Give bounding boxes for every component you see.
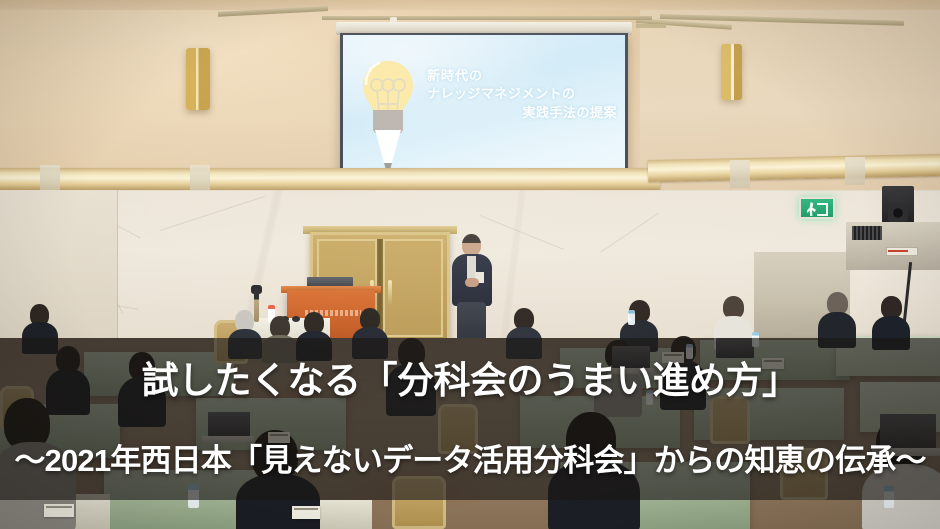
av-rack-label — [886, 247, 918, 256]
rail-bracket-4 — [845, 157, 865, 185]
overlay-title: 試したくなる「分科会のうまい進め方」 — [0, 362, 940, 401]
water-bottle-6 — [628, 310, 635, 325]
audience-member-9 — [818, 292, 856, 344]
presenter — [450, 234, 494, 344]
door-leaf-right[interactable] — [383, 239, 443, 337]
ceiling-strip — [0, 0, 940, 10]
exit-sign — [799, 197, 835, 219]
marble-left-panel — [0, 190, 118, 340]
presenter-head — [462, 234, 481, 256]
wall-gold-rail — [0, 168, 660, 190]
rail-bracket-3 — [730, 160, 750, 188]
slide-line-1: 新時代の — [427, 67, 623, 85]
slide-line-2: ナレッジマネジメントの — [427, 85, 623, 103]
exit-running-figure-icon — [807, 202, 816, 216]
slide-line-3: 実践手法の提案 — [427, 104, 623, 122]
wall-sconce-right — [721, 44, 742, 100]
marble-vein-2 — [160, 196, 265, 231]
speaker-cone — [888, 204, 908, 222]
presenter-hands — [465, 278, 479, 287]
marble-vein-5 — [600, 213, 659, 253]
exit-door-icon — [817, 203, 828, 216]
conference-photo-slide: 新時代の ナレッジマネジメントの 実践手法の提案 見えないデータを活用する 分科… — [0, 0, 940, 529]
rail-bracket-1 — [40, 165, 60, 193]
av-rack-panel — [852, 226, 882, 240]
slide-text-block: 新時代の ナレッジマネジメントの 実践手法の提案 — [427, 67, 623, 122]
ceiling-track-rail — [636, 24, 666, 28]
rail-bracket-2 — [190, 165, 210, 193]
name-card-5 — [292, 506, 320, 519]
overlay-subtitle: 〜2021年西日本「見えないデータ活用分科会」からの知恵の伝承〜 — [0, 445, 940, 478]
screen-mount-rod — [322, 16, 652, 20]
wall-sconce-left — [186, 48, 210, 110]
door-handle-right[interactable] — [388, 280, 392, 306]
name-card-4 — [44, 504, 74, 517]
